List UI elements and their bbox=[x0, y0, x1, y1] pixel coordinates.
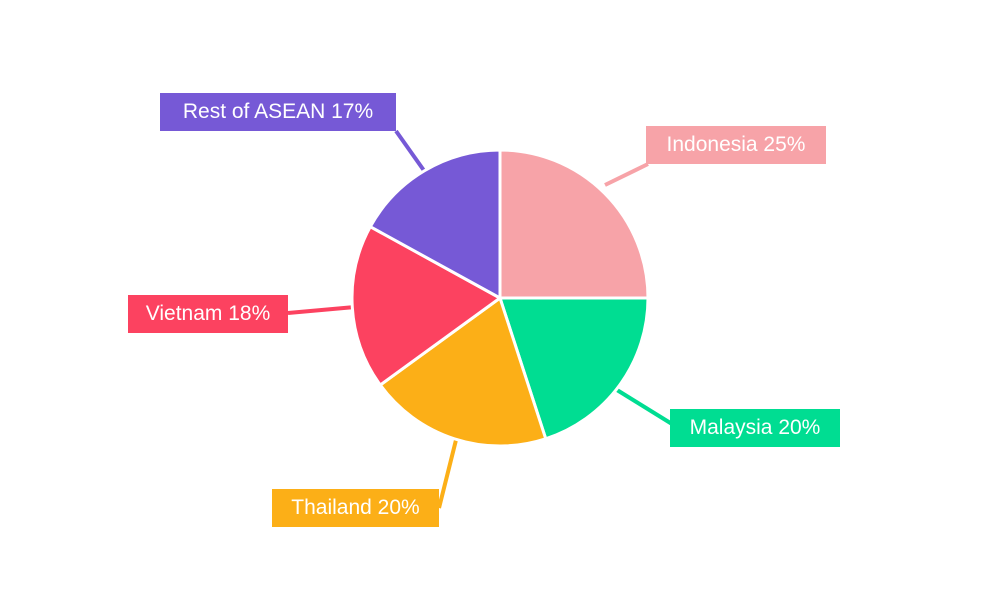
leader-line-rest-of-asean bbox=[396, 131, 425, 172]
leader-line-thailand bbox=[439, 440, 456, 508]
pie-chart: Indonesia 25%Malaysia 20%Thailand 20%Vie… bbox=[0, 0, 1000, 600]
pie-slices-group bbox=[352, 150, 648, 446]
pie-label-vietnam[interactable]: Vietnam 18% bbox=[128, 295, 288, 333]
pie-label-rest-of-asean[interactable]: Rest of ASEAN 17% bbox=[160, 93, 396, 131]
leader-line-indonesia bbox=[605, 164, 648, 185]
pie-slice-indonesia[interactable] bbox=[500, 150, 648, 298]
pie-label-malaysia[interactable]: Malaysia 20% bbox=[670, 409, 840, 447]
leader-line-vietnam bbox=[288, 307, 355, 313]
leader-line-malaysia bbox=[617, 390, 672, 424]
pie-label-indonesia[interactable]: Indonesia 25% bbox=[646, 126, 826, 164]
pie-label-thailand[interactable]: Thailand 20% bbox=[272, 489, 439, 527]
